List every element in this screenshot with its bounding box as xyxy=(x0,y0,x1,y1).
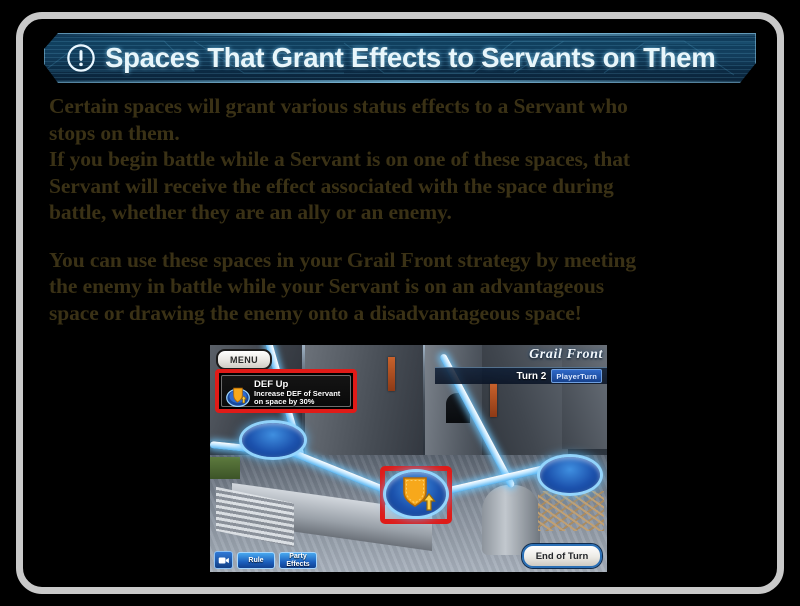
body-line: battle, whether they are an ally or an e… xyxy=(49,199,761,226)
body-line: You can use these spaces in your Grail F… xyxy=(49,247,761,274)
player-turn-badge: PlayerTurn xyxy=(551,369,602,383)
paragraph-1: Certain spaces will grant various status… xyxy=(49,93,761,226)
body-line: Certain spaces will grant various status… xyxy=(49,93,761,120)
castle-scaffold xyxy=(538,491,604,531)
map-node-left[interactable] xyxy=(242,423,304,457)
castle-banner-2 xyxy=(490,383,497,417)
rule-button-label: Rule xyxy=(248,557,263,565)
body-line: stops on them. xyxy=(49,120,761,147)
page-title: Spaces That Grant Effects to Servants on… xyxy=(105,42,715,74)
turn-status-bar: Turn 2 PlayerTurn xyxy=(435,367,607,384)
paragraph-2: You can use these spaces in your Grail F… xyxy=(49,247,761,327)
party-effects-button[interactable]: Party Effects xyxy=(279,552,317,569)
hud-bottom-left: Rule Party Effects xyxy=(214,551,317,569)
camera-button[interactable] xyxy=(214,551,233,569)
camera-icon xyxy=(218,555,230,566)
def-up-shield-icon xyxy=(400,474,436,512)
body-line: If you begin battle while a Servant is o… xyxy=(49,146,761,173)
map-node-right[interactable] xyxy=(540,457,600,493)
castle-banner-1 xyxy=(388,357,395,391)
party-effects-label-line1: Party xyxy=(289,553,307,561)
header-banner: Spaces That Grant Effects to Servants on… xyxy=(44,33,756,83)
end-turn-button[interactable]: End of Turn xyxy=(522,544,602,568)
body-line: space or drawing the enemy onto a disadv… xyxy=(49,300,761,327)
rule-button[interactable]: Rule xyxy=(237,552,275,569)
space-effect-tooltip: DEF Up Increase DEF of Servant on space … xyxy=(215,369,357,413)
party-effects-label-line2: Effects xyxy=(286,561,309,569)
body-line: the enemy in battle while your Servant i… xyxy=(49,273,761,300)
menu-button[interactable]: MENU xyxy=(216,349,272,370)
page-content: Spaces That Grant Effects to Servants on… xyxy=(23,19,777,587)
header-row: Spaces That Grant Effects to Servants on… xyxy=(44,33,756,83)
exclamation-circle-icon xyxy=(66,43,96,73)
game-mode-title: Grail Front xyxy=(529,347,603,363)
body-line: Servant will receive the effect associat… xyxy=(49,173,761,200)
tooltip-description: Increase DEF of Servant on space by 30% xyxy=(254,390,347,405)
turn-counter: Turn 2 xyxy=(517,371,547,382)
tooltip-inner: DEF Up Increase DEF of Servant on space … xyxy=(221,375,351,407)
window-frame: Spaces That Grant Effects to Servants on… xyxy=(16,12,784,594)
map-grass-patch xyxy=(210,457,240,479)
def-up-shield-icon xyxy=(225,383,251,409)
tooltip-text: DEF Up Increase DEF of Servant on space … xyxy=(254,379,347,405)
body-copy: Certain spaces will grant various status… xyxy=(49,93,761,326)
game-screenshot: MENU DEF Up Increase DEF of Servant on s… xyxy=(210,345,607,572)
